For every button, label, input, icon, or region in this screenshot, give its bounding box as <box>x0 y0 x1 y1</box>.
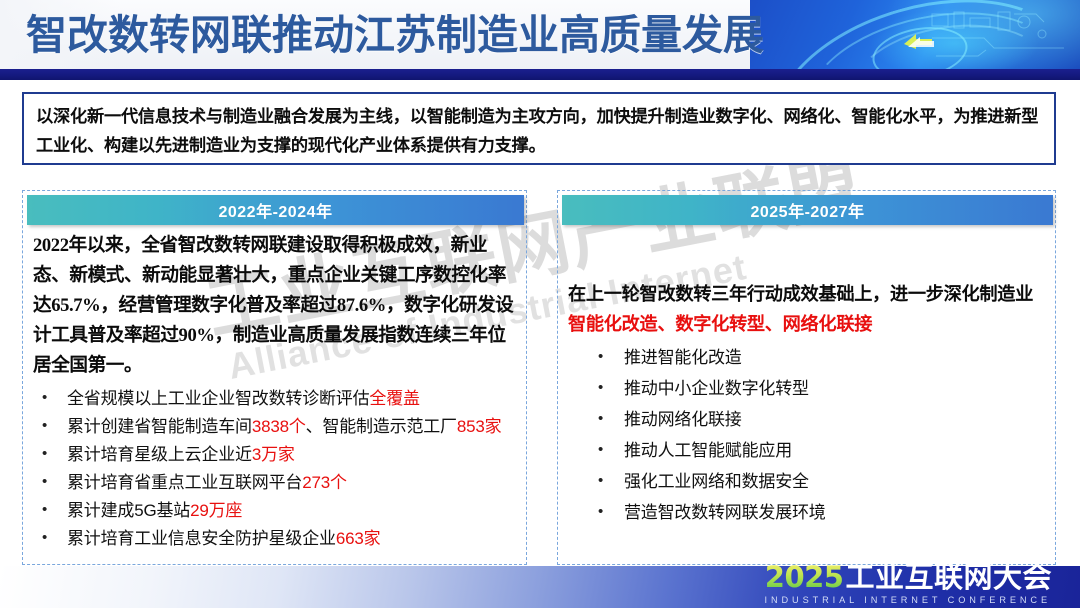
panel-right-body: 在上一轮智改数转三年行动成效基础上，进一步深化制造业智能化改造、数字化转型、网络… <box>558 227 1055 564</box>
footer-band: 2025 工业互联网大会 INDUSTRIAL INTERNET CONFERE… <box>0 566 1080 608</box>
panel-left-bullet-list: 全省规模以上工业企业智改数转诊断评估全覆盖累计创建省智能制造车间3838个、智能… <box>33 385 518 553</box>
list-item: 推动网络化联接 <box>568 405 1047 435</box>
list-item: 全省规模以上工业企业智改数转诊断评估全覆盖 <box>33 385 518 413</box>
list-item: 强化工业网络和数据安全 <box>568 467 1047 497</box>
intro-textbox: 以深化新一代信息技术与制造业融合发展为主线，以智能制造为主攻方向，加快提升制造业… <box>22 92 1056 165</box>
list-item: 累计培育星级上云企业近3万家 <box>33 441 518 469</box>
panel-right-header-label: 2025年-2027年 <box>750 198 864 222</box>
conference-name-en: INDUSTRIAL INTERNET CONFERENCE <box>765 596 1051 605</box>
conference-year: 2025 <box>765 563 844 592</box>
list-item-highlight: 3万家 <box>252 445 295 464</box>
panel-left-body: 2022年以来，全省智改数转网联建设取得积极成效，新业态、新模式、新动能显著壮大… <box>23 227 526 564</box>
list-item: 累计培育省重点工业互联网平台273个 <box>33 469 518 497</box>
panel-left-header: 2022年-2024年 <box>27 195 524 225</box>
list-item-text: 累计培育星级上云企业近 <box>67 445 252 464</box>
list-item: 累计建成5G基站29万座 <box>33 497 518 525</box>
list-item-text: 累计创建省智能制造车间 <box>67 417 252 436</box>
conference-logo-main: 2025 工业互联网大会 <box>765 563 1052 593</box>
list-item-text: 累计培育省重点工业互联网平台 <box>67 473 302 492</box>
panel-right-paragraph-prefix: 在上一轮智改数转三年行动成效基础上，进一步深化制造业 <box>568 284 1033 304</box>
list-item: 累计创建省智能制造车间3838个、智能制造示范工厂853家 <box>33 413 518 441</box>
list-item-text: 全省规模以上工业企业智改数转诊断评估 <box>67 389 369 408</box>
conference-logo: 2025 工业互联网大会 INDUSTRIAL INTERNET CONFERE… <box>765 563 1052 605</box>
list-item-highlight: 全覆盖 <box>369 389 419 408</box>
panel-right-paragraph: 在上一轮智改数转三年行动成效基础上，进一步深化制造业智能化改造、数字化转型、网络… <box>568 279 1047 339</box>
list-item-text: 累计建成5G基站 <box>67 501 190 520</box>
list-item-text: 累计培育工业信息安全防护星级企业 <box>67 529 336 548</box>
slide-root: 智改数转网联推动江苏制造业高质量发展 工业互联网产业联盟 Alliance of… <box>0 0 1080 608</box>
list-item: 推动中小企业数字化转型 <box>568 374 1047 404</box>
conference-name-cn: 工业互联网大会 <box>845 564 1052 593</box>
panel-2022-2024: 2022年-2024年 2022年以来，全省智改数转网联建设取得积极成效，新业态… <box>22 190 527 565</box>
page-title: 智改数转网联推动江苏制造业高质量发展 <box>26 6 764 64</box>
panel-left-header-label: 2022年-2024年 <box>218 198 332 222</box>
list-item-highlight: 853家 <box>457 417 502 436</box>
list-item-highlight: 29万座 <box>190 501 242 520</box>
list-item: 累计培育工业信息安全防护星级企业663家 <box>33 525 518 553</box>
tech-circuit-banner-graphic <box>750 0 1080 70</box>
panel-right-bullet-list: 推进智能化改造推动中小企业数字化转型推动网络化联接推动人工智能赋能应用强化工业网… <box>568 343 1047 528</box>
decor-circuit-grid <box>924 4 1074 68</box>
list-item: 推动人工智能赋能应用 <box>568 436 1047 466</box>
intro-text: 以深化新一代信息技术与制造业融合发展为主线，以智能制造为主攻方向，加快提升制造业… <box>36 102 1042 160</box>
panel-2025-2027: 2025年-2027年 在上一轮智改数转三年行动成效基础上，进一步深化制造业智能… <box>557 190 1056 565</box>
list-item-highlight: 3838个 <box>252 417 306 436</box>
list-item: 推进智能化改造 <box>568 343 1047 373</box>
panel-left-paragraph: 2022年以来，全省智改数转网联建设取得积极成效，新业态、新模式、新动能显著壮大… <box>33 231 518 381</box>
list-item-highlight: 663家 <box>336 529 381 548</box>
panel-right-header: 2025年-2027年 <box>562 195 1053 225</box>
list-item: 营造智改数转网联发展环境 <box>568 498 1047 528</box>
panel-right-paragraph-highlight: 智能化改造、数字化转型、网络化联接 <box>568 314 872 334</box>
header-divider-bar <box>0 69 1080 80</box>
list-item-highlight: 273个 <box>302 473 347 492</box>
list-item-text: 、智能制造示范工厂 <box>306 417 457 436</box>
